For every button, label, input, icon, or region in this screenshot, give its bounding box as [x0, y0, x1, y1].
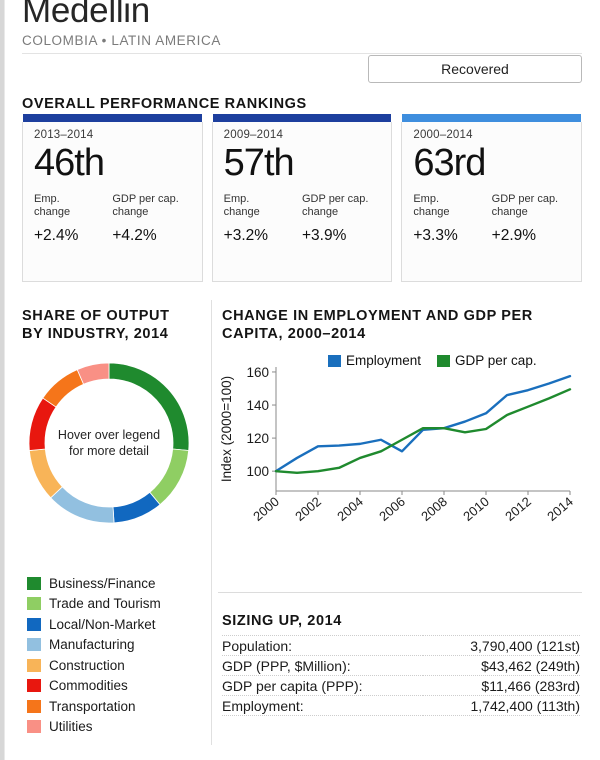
share-of-output-panel: SHARE OF OUTPUT BY INDUSTRY, 2014 Hover … — [22, 307, 202, 529]
card-period: 2000–2014 — [413, 129, 570, 141]
legend-label: Utilities — [49, 719, 93, 734]
card-rank-value: 46th — [34, 142, 191, 184]
stat-label: Employment: — [222, 696, 423, 716]
metric-employment-change: Emp.change +3.3% — [413, 193, 491, 245]
metric-gdp-per-cap-change: GDP per cap.change +2.9% — [492, 193, 570, 245]
line-title-line2: CAPITA, 2000–2014 — [222, 325, 574, 343]
line-chart-svg: 100120140160Index (2000=100)200020022004… — [218, 355, 578, 545]
y-axis-label: Index (2000=100) — [219, 376, 234, 482]
donut-chart-svg — [24, 357, 194, 529]
legend-item[interactable]: Transportation — [27, 696, 207, 717]
ranking-cards-row: 2013–2014 46th Emp.change +2.4% GDP per … — [22, 122, 582, 282]
metric-label-line2: change — [302, 206, 338, 218]
card-metrics: Emp.change +2.4% GDP per cap.change +4.2… — [34, 193, 191, 245]
page-title: Medellin — [22, 0, 582, 30]
line-title-line1: CHANGE IN EMPLOYMENT AND GDP PER — [222, 307, 574, 325]
line-chart[interactable]: EmploymentGDP per cap. 100120140160Index… — [218, 355, 578, 545]
sizing-up-title: SIZING UP, 2014 — [222, 612, 582, 630]
chart-legend-swatch-icon — [328, 355, 341, 367]
table-row: GDP per capita (PPP):$11,466 (283rd) — [222, 676, 580, 696]
legend-label: Business/Finance — [49, 576, 156, 591]
donut-title-line2: BY INDUSTRY, 2014 — [22, 325, 202, 343]
legend-label: Manufacturing — [49, 637, 135, 652]
x-tick-label: 2014 — [544, 494, 576, 524]
ranking-card[interactable]: 2013–2014 46th Emp.change +2.4% GDP per … — [22, 122, 203, 282]
chart-legend-item[interactable]: GDP per cap. — [437, 353, 537, 368]
legend-label: Transportation — [49, 699, 136, 714]
legend-swatch-icon — [27, 700, 41, 713]
card-accent-bar — [213, 114, 392, 122]
card-period: 2013–2014 — [34, 129, 191, 141]
legend-swatch-icon — [27, 618, 41, 631]
industry-legend: Business/FinanceTrade and TourismLocal/N… — [27, 573, 207, 737]
card-metrics: Emp.change +3.2% GDP per cap.change +3.9… — [224, 193, 381, 245]
metric-gdp-per-cap-change: GDP per cap.change +3.9% — [302, 193, 380, 245]
chart-legend-item[interactable]: Employment — [328, 353, 421, 368]
page-header: Medellin COLOMBIA • LATIN AMERICA — [22, 0, 582, 48]
employment-gdp-panel: CHANGE IN EMPLOYMENT AND GDP PER CAPITA,… — [222, 307, 582, 545]
x-tick-label: 2000 — [250, 494, 282, 524]
metric-label-line2: change — [413, 206, 449, 218]
metric-label-line1: Emp. — [34, 193, 60, 205]
vertical-divider — [211, 300, 212, 745]
chart-legend-label: GDP per cap. — [455, 353, 537, 368]
stat-value: 1,742,400 (113th) — [423, 696, 580, 716]
chart-legend-swatch-icon — [437, 355, 450, 367]
legend-label: Local/Non-Market — [49, 617, 156, 632]
card-period: 2009–2014 — [224, 129, 381, 141]
ranking-card[interactable]: 2000–2014 63rd Emp.change +3.3% GDP per … — [401, 122, 582, 282]
donut-slice[interactable] — [29, 449, 62, 498]
metric-value: +2.9% — [492, 227, 570, 245]
donut-chart[interactable]: Hover over legend for more detail — [24, 357, 194, 529]
card-rank-value: 63rd — [413, 142, 570, 184]
donut-slice[interactable] — [109, 363, 189, 451]
y-tick-label: 160 — [246, 365, 269, 380]
legend-item[interactable]: Business/Finance — [27, 573, 207, 594]
ranking-card[interactable]: 2009–2014 57th Emp.change +3.2% GDP per … — [212, 122, 393, 282]
region-subtitle: COLOMBIA • LATIN AMERICA — [22, 33, 582, 48]
metric-employment-change: Emp.change +3.2% — [224, 193, 302, 245]
x-tick-label: 2006 — [376, 494, 408, 524]
metric-label-line2: change — [492, 206, 528, 218]
status-badge-recovered[interactable]: Recovered — [368, 55, 582, 83]
y-tick-label: 120 — [246, 431, 269, 446]
legend-item[interactable]: Local/Non-Market — [27, 614, 207, 635]
metric-label-line1: GDP per cap. — [302, 193, 368, 205]
card-accent-bar — [402, 114, 581, 122]
metric-label-line1: GDP per cap. — [112, 193, 178, 205]
donut-title-line1: SHARE OF OUTPUT — [22, 307, 202, 325]
legend-item[interactable]: Commodities — [27, 676, 207, 697]
x-tick-label: 2012 — [502, 494, 534, 524]
y-tick-label: 100 — [246, 464, 269, 479]
metric-value: +4.2% — [112, 227, 190, 245]
stat-value: $11,466 (283rd) — [423, 676, 580, 696]
chart-legend-label: Employment — [346, 353, 421, 368]
legend-swatch-icon — [27, 720, 41, 733]
table-row: Population:3,790,400 (121st) — [222, 636, 580, 656]
sizing-up-table: Population:3,790,400 (121st)GDP (PPP, $M… — [222, 635, 580, 716]
donut-slice[interactable] — [150, 449, 189, 505]
stat-value: $43,462 (249th) — [423, 656, 580, 676]
legend-swatch-icon — [27, 597, 41, 610]
sizing-up-panel: SIZING UP, 2014 Population:3,790,400 (12… — [222, 612, 582, 716]
card-rank-value: 57th — [224, 142, 381, 184]
left-gutter-line — [4, 0, 5, 760]
legend-label: Commodities — [49, 678, 128, 693]
metric-label-line2: change — [112, 206, 148, 218]
metric-value: +3.3% — [413, 227, 491, 245]
metric-label-line1: GDP per cap. — [492, 193, 558, 205]
metric-label-line2: change — [34, 206, 70, 218]
city-profile-page: Medellin COLOMBIA • LATIN AMERICA Recove… — [0, 0, 600, 760]
line-chart-legend: EmploymentGDP per cap. — [328, 353, 537, 368]
metric-employment-change: Emp.change +2.4% — [34, 193, 112, 245]
table-row: GDP (PPP, $Million):$43,462 (249th) — [222, 656, 580, 676]
right-column-divider — [218, 592, 582, 593]
donut-slice[interactable] — [29, 398, 56, 450]
x-tick-label: 2010 — [460, 494, 492, 524]
table-row: Employment:1,742,400 (113th) — [222, 696, 580, 716]
metric-value: +3.9% — [302, 227, 380, 245]
card-accent-bar — [23, 114, 202, 122]
legend-swatch-icon — [27, 638, 41, 651]
rankings-section-title: OVERALL PERFORMANCE RANKINGS — [22, 95, 307, 113]
donut-slice[interactable] — [113, 492, 160, 523]
legend-item[interactable]: Trade and Tourism — [27, 594, 207, 615]
donut-slice[interactable] — [77, 363, 109, 384]
legend-swatch-icon — [27, 577, 41, 590]
metric-value: +3.2% — [224, 227, 302, 245]
y-tick-label: 140 — [246, 398, 269, 413]
header-divider — [22, 53, 582, 54]
metric-label-line2: change — [224, 206, 260, 218]
x-tick-label: 2002 — [292, 494, 324, 524]
metric-label-line1: Emp. — [224, 193, 250, 205]
x-tick-label: 2008 — [418, 494, 450, 524]
stat-label: GDP (PPP, $Million): — [222, 656, 423, 676]
legend-swatch-icon — [27, 659, 41, 672]
stat-value: 3,790,400 (121st) — [423, 636, 580, 656]
metric-value: +2.4% — [34, 227, 112, 245]
donut-slice[interactable] — [51, 487, 114, 523]
donut-slice[interactable] — [43, 370, 84, 407]
legend-item[interactable]: Construction — [27, 655, 207, 676]
stat-label: GDP per capita (PPP): — [222, 676, 423, 696]
legend-item[interactable]: Utilities — [27, 717, 207, 738]
legend-label: Trade and Tourism — [49, 596, 161, 611]
stat-label: Population: — [222, 636, 423, 656]
legend-swatch-icon — [27, 679, 41, 692]
legend-item[interactable]: Manufacturing — [27, 635, 207, 656]
legend-label: Construction — [49, 658, 125, 673]
series-line — [276, 376, 570, 471]
card-metrics: Emp.change +3.3% GDP per cap.change +2.9… — [413, 193, 570, 245]
metric-label-line1: Emp. — [413, 193, 439, 205]
metric-gdp-per-cap-change: GDP per cap.change +4.2% — [112, 193, 190, 245]
x-tick-label: 2004 — [334, 494, 366, 524]
